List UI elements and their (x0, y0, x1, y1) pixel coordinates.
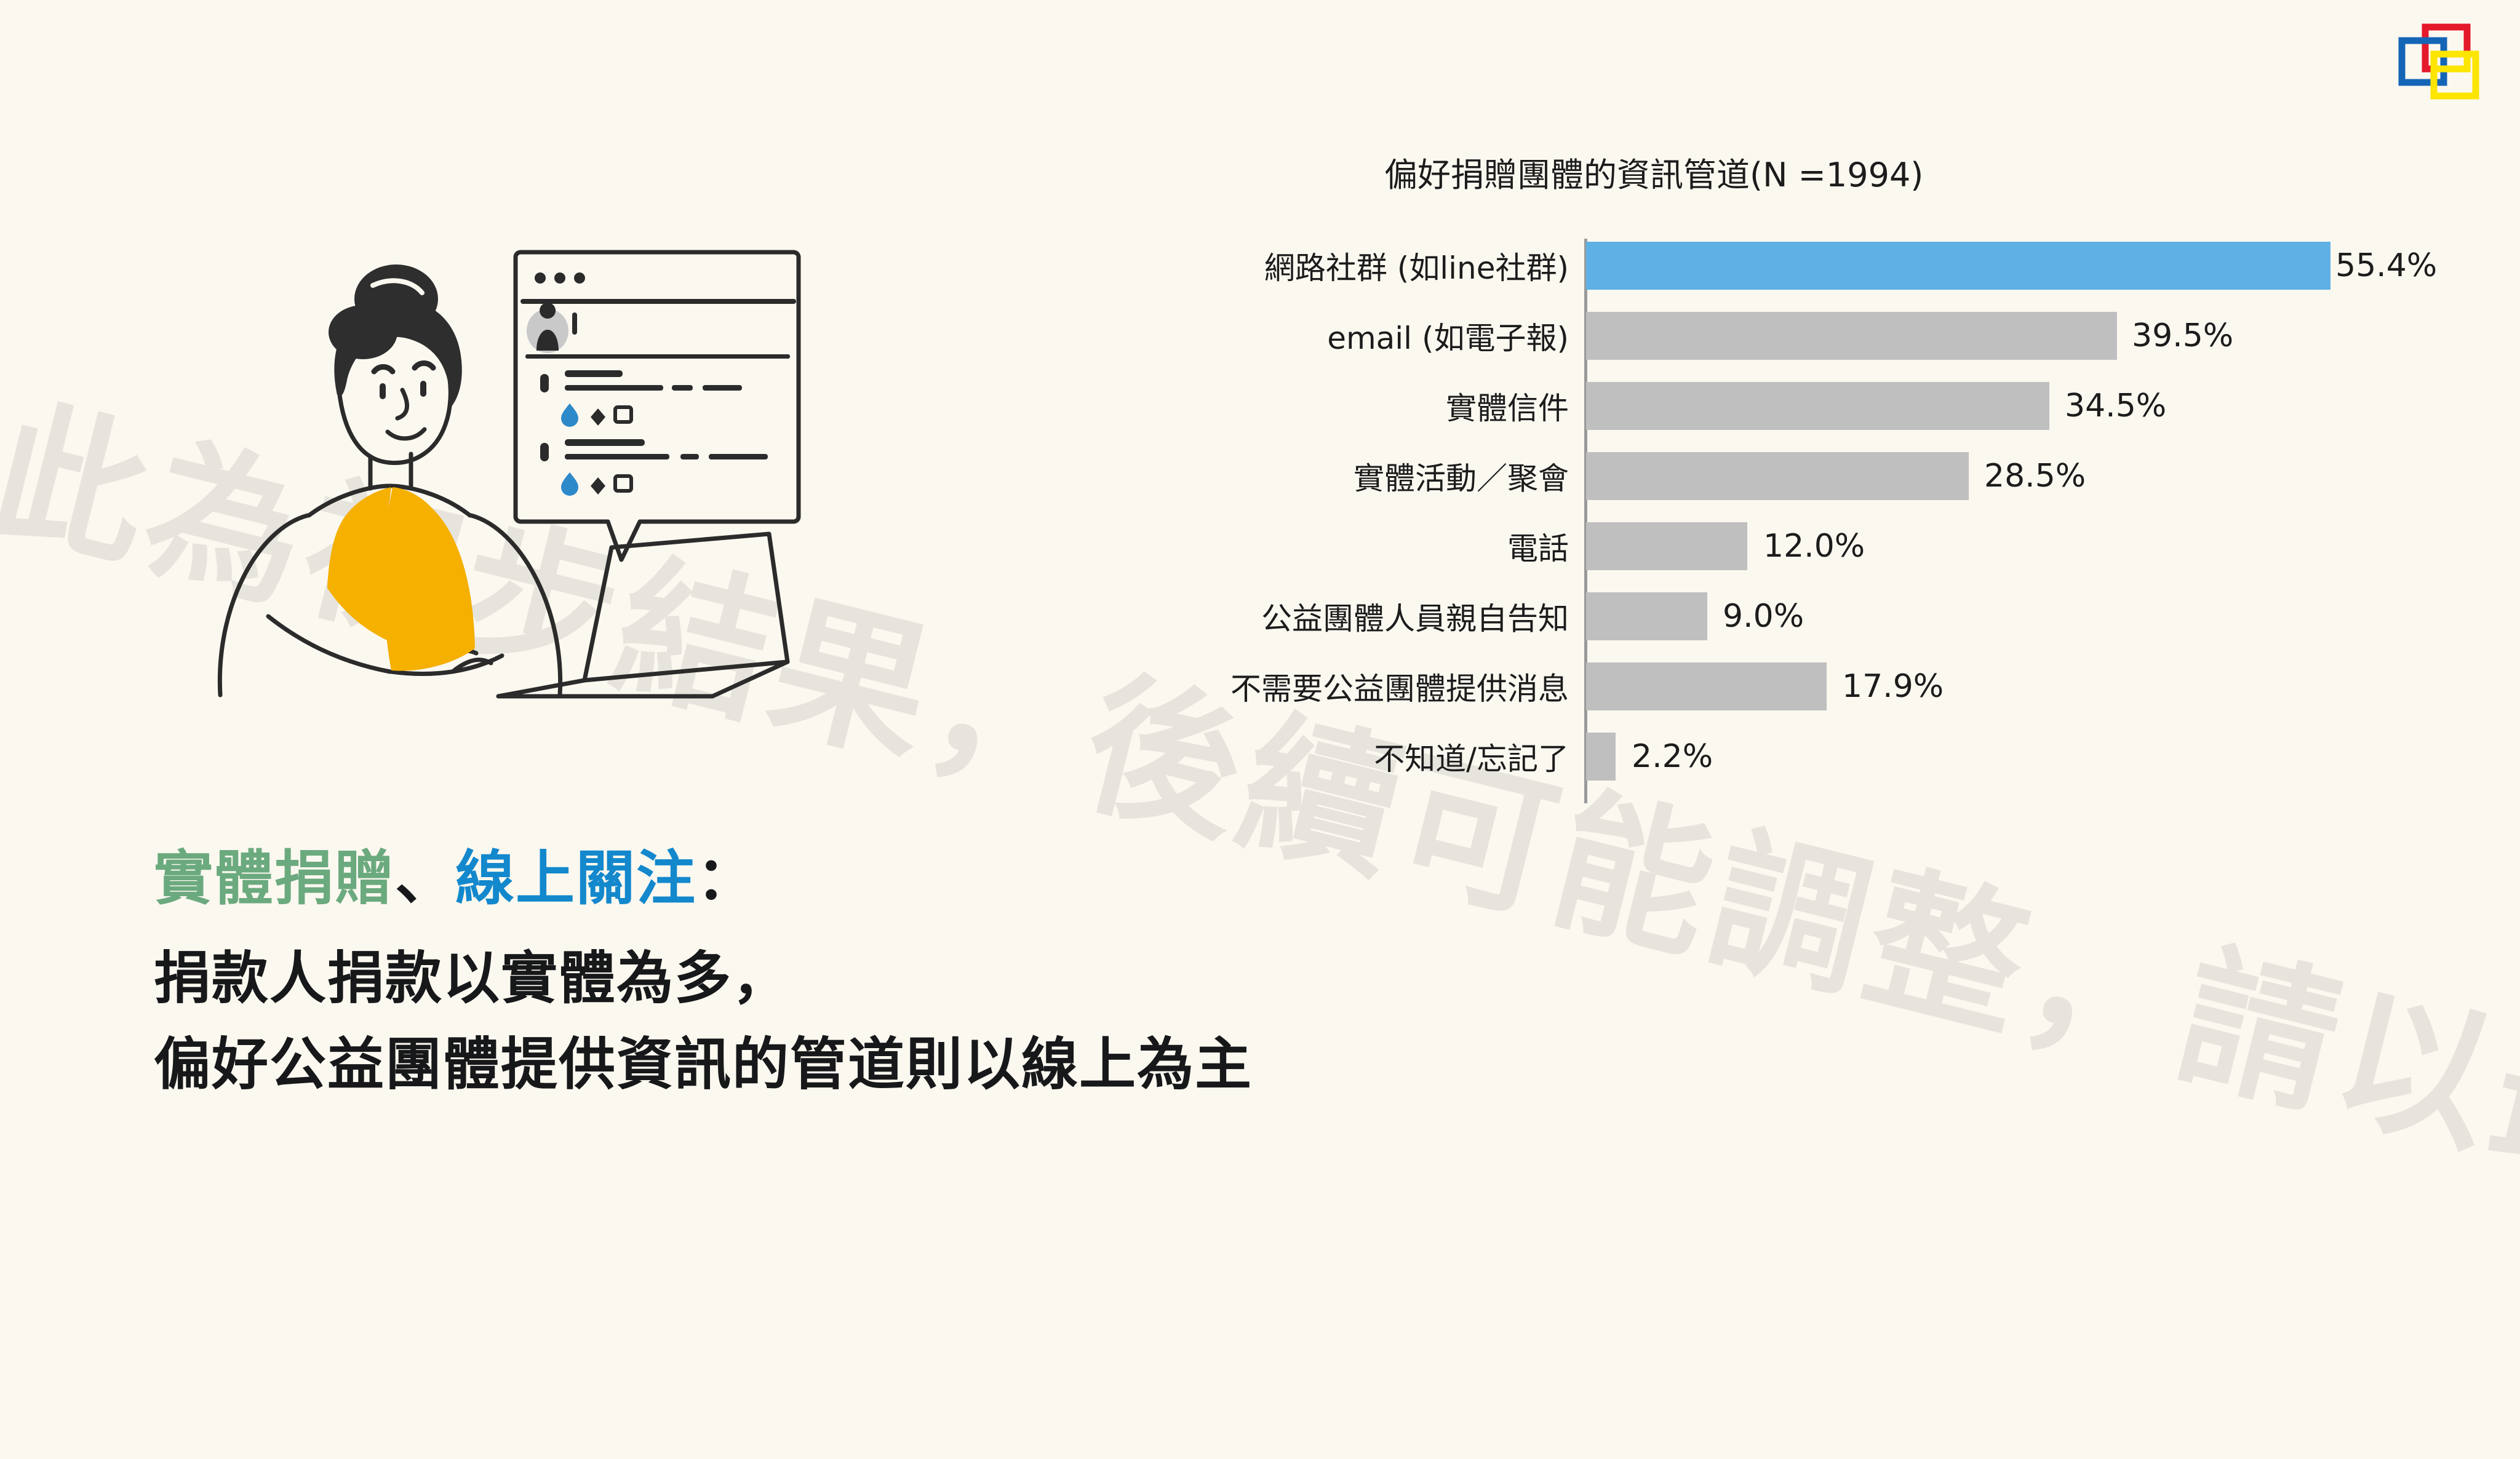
chart-value-label: 17.9% (1842, 668, 1944, 705)
kicker-colon: ： (696, 844, 757, 913)
chart-bar (1586, 312, 2117, 360)
summary-text-block: 實體捐贈、線上關注： 捐款人捐款以實體為多， 偏好公益團體提供資訊的管道則以線上… (154, 843, 2369, 1108)
chart-bar (1586, 382, 2049, 430)
chart-plot-area: 網路社群 (如line社群) 55.4% email (如電子報) 39.5% … (960, 234, 2510, 824)
chart-row: 實體活動／聚會 28.5% (960, 444, 2510, 508)
chart-category-label: 不需要公益團體提供消息 (1230, 664, 1569, 709)
chart-value-label: 28.5% (1984, 458, 2086, 495)
chart-bar (1586, 522, 1747, 570)
chart-value-label: 34.5% (2065, 388, 2166, 424)
chart-row: 網路社群 (如line社群) 55.4% (960, 234, 2510, 298)
chart-value-label: 9.0% (1723, 598, 1804, 635)
chart-row: 實體信件 34.5% (960, 374, 2510, 438)
chart-value-label: 2.2% (1632, 738, 1713, 775)
chart-category-label: 電話 (1507, 524, 1569, 568)
kicker-line: 實體捐贈、線上關注： (154, 843, 2369, 915)
summary-line-1: 捐款人捐款以實體為多， (154, 936, 2369, 1022)
chart-row: 公益團體人員親自告知 9.0% (960, 584, 2510, 648)
chart-row: 不需要公益團體提供消息 17.9% (960, 654, 2510, 718)
chart-title: 偏好捐贈團體的資訊管道(N =1994) (1384, 148, 1923, 196)
chart-category-label: 實體信件 (1446, 384, 1569, 428)
kicker-blue-text: 線上關注 (455, 844, 696, 913)
chart-bar (1586, 242, 2331, 290)
chart-bar (1586, 733, 1616, 781)
chart-row: 電話 12.0% (960, 514, 2510, 578)
chart-category-label: 公益團體人員親自告知 (1261, 594, 1569, 638)
chart-bar (1586, 592, 1707, 640)
three-interlocking-squares-logo (2396, 22, 2488, 108)
kicker-green-text: 實體捐贈 (154, 844, 395, 913)
kicker-separator: 、 (395, 844, 455, 913)
chart-category-label: 不知道/忘記了 (1374, 734, 1569, 779)
chart-category-label: 實體活動／聚會 (1354, 454, 1569, 498)
chart-category-label: email (如電子報) (1327, 314, 1569, 358)
chart-region: 偏好捐贈團體的資訊管道(N =1994) 網路社群 (如line社群) 55.4… (960, 148, 2510, 843)
chart-bar (1586, 662, 1827, 710)
chart-value-label: 39.5% (2132, 317, 2233, 354)
chart-value-label: 55.4% (2335, 247, 2437, 284)
chart-category-label: 網路社群 (如line社群) (1264, 244, 1569, 288)
chart-row: 不知道/忘記了 2.2% (960, 725, 2510, 789)
summary-line-2: 偏好公益團體提供資訊的管道則以線上為主 (154, 1022, 2369, 1108)
chart-value-label: 12.0% (1763, 528, 1865, 565)
slide-root: 此為初步結果，後續可能調整，請以最新版本為準， (0, 0, 2520, 1417)
woman-using-laptop-illustration (154, 240, 812, 707)
chart-row: email (如電子報) 39.5% (960, 304, 2510, 368)
chart-bar (1586, 452, 1969, 500)
